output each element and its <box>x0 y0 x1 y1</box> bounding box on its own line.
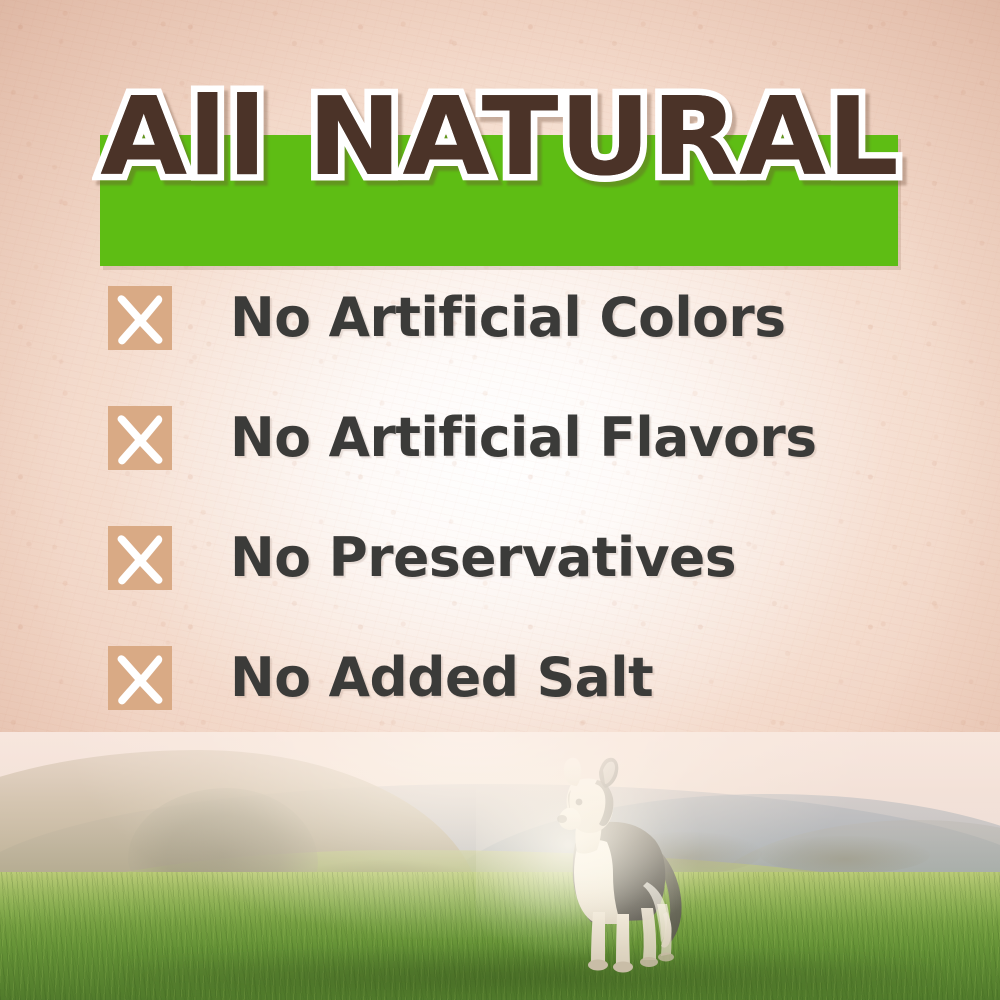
list-item-label: No Artificial Colors <box>230 288 786 348</box>
list-item-label: No Artificial Flavors <box>230 408 817 468</box>
photo-shrub <box>760 836 930 874</box>
landscape-photo <box>0 732 1000 1000</box>
list-item: No Preservatives <box>108 498 968 618</box>
list-item: No Artificial Colors <box>108 258 968 378</box>
list-item: No Added Salt <box>108 618 968 738</box>
page-title-outline: All NATURAL <box>0 78 1000 198</box>
claims-list: No Artificial Colors No Artificial Flavo… <box>108 258 968 738</box>
x-mark-icon <box>108 406 172 470</box>
all-natural-badge-card: All NATURAL All NATURAL No Artificial Co… <box>0 0 1000 1000</box>
x-mark-icon <box>108 646 172 710</box>
list-item-label: No Preservatives <box>230 528 736 588</box>
list-item-label: No Added Salt <box>230 648 653 708</box>
x-mark-icon <box>108 526 172 590</box>
list-item: No Artificial Flavors <box>108 378 968 498</box>
x-mark-icon <box>108 286 172 350</box>
dog-icon <box>521 752 711 982</box>
headline-block: All NATURAL All NATURAL <box>0 78 1000 198</box>
